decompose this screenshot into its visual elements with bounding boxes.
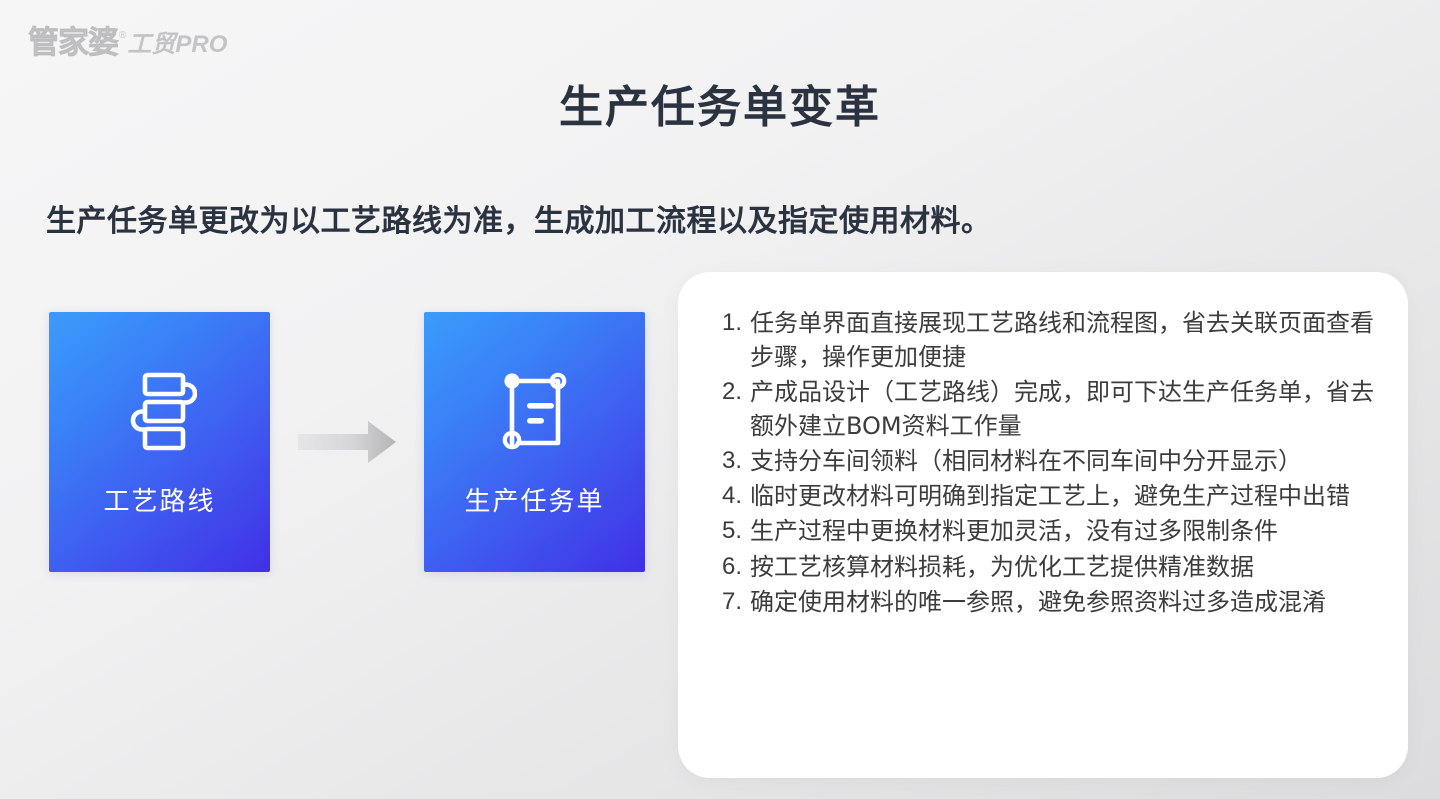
page-title: 生产任务单变革 [0,82,1440,135]
arrow-right-icon [298,421,396,463]
list-item: 产成品设计（工艺路线）完成，即可下达生产任务单，省去额外建立BOM资料工作量 [704,375,1382,443]
flow-tile-production-task-order: 生产任务单 [424,312,645,572]
flow-tile-label-production-task-order: 生产任务单 [464,489,604,515]
registered-trademark-icon: ® [119,31,126,41]
task-order-icon [496,369,574,455]
process-route-icon [121,369,199,455]
brand-name-cn: 管家婆 [28,28,118,59]
flow-tile-label-process-route: 工艺路线 [103,489,215,515]
brand-product-name: 工贸PRO [127,33,227,57]
list-item: 支持分车间领料（相同材料在不同车间中分开显示） [704,444,1382,478]
benefits-card: 任务单界面直接展现工艺路线和流程图，省去关联页面查看步骤，操作更加便捷 产成品设… [678,272,1408,778]
benefits-list: 任务单界面直接展现工艺路线和流程图，省去关联页面查看步骤，操作更加便捷 产成品设… [678,272,1408,619]
flow-arrow [270,412,424,472]
list-item: 按工艺核算材料损耗，为优化工艺提供精准数据 [704,550,1382,584]
brand-logo: 管家婆 ® 工贸PRO [28,28,229,59]
page-subtitle: 生产任务单更改为以工艺路线为准，生成加工流程以及指定使用材料。 [46,203,992,241]
list-item: 任务单界面直接展现工艺路线和流程图，省去关联页面查看步骤，操作更加便捷 [704,306,1382,374]
flow-tile-process-route: 工艺路线 [49,312,270,572]
transformation-flow-diagram: 工艺路线 生产 [49,312,649,572]
list-item: 临时更改材料可明确到指定工艺上，避免生产过程中出错 [704,479,1382,513]
list-item: 生产过程中更换材料更加灵活，没有过多限制条件 [704,514,1382,548]
list-item: 确定使用材料的唯一参照，避免参照资料过多造成混淆 [704,585,1382,619]
